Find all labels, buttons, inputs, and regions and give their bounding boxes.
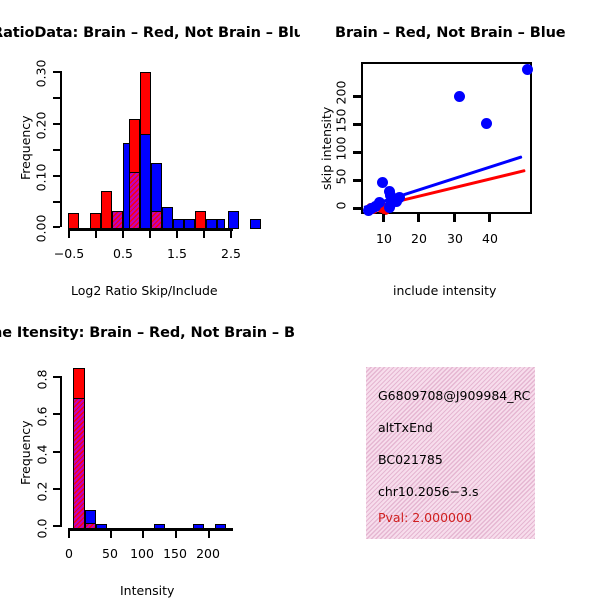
scatter-point-notbrain: [454, 91, 465, 102]
scatter-y-ticklabel-150: 150: [334, 106, 349, 136]
ratio-histogram-title: RatioData: Brain – Red, Not Brain – Blu: [0, 25, 300, 41]
gene-x-tick-0: [68, 531, 70, 538]
ratio-histogram-yaxis: [60, 71, 62, 227]
ratio-bar-overlap-5: [112, 211, 123, 229]
gene-y-tick-00: [53, 525, 60, 527]
gene-x-tick-150: [175, 531, 177, 538]
ratio-y-ticklabel-000: 0.00: [34, 212, 49, 246]
gene-y-ticklabel-08: 0.8: [35, 365, 50, 395]
panel-gene-info: G6809708@J909984_RC altTxEnd BC021785 ch…: [300, 300, 600, 600]
ratio-x-tick-20: [203, 231, 205, 238]
ratio-histogram-ylabel: Frequency: [18, 115, 33, 180]
ratio-y-ticklabel-010: 0.10: [34, 161, 49, 195]
ratio-y-tick-020: [53, 123, 60, 125]
scatter-y-ticklabel-50: 50: [334, 162, 349, 192]
gene-y-tick-08: [53, 376, 60, 378]
ratio-y-tick-010: [53, 175, 60, 177]
scatter-title: Brain – Red, Not Brain – Blue: [335, 25, 566, 41]
scatter-y-ticklabel-0: 0: [334, 191, 349, 221]
ratio-y-ticklabel-030: 0.30: [34, 57, 49, 91]
ratio-x-tick-00: [95, 231, 97, 238]
scatter-x-ticklabel-30: 30: [435, 231, 475, 246]
scatter-x-ticklabel-10: 10: [364, 231, 404, 246]
ratio-y-tick-015: [53, 149, 60, 151]
scatter-y-tick-50: [353, 179, 361, 182]
gene-intensity-xlabel: Intensity: [120, 583, 174, 598]
gene-y-tick-04: [53, 451, 60, 453]
scatter-ylabel: skip intensity: [319, 107, 334, 190]
ratio-y-tick-025: [53, 97, 60, 99]
gene-bar-overlap-2: [85, 523, 96, 529]
ratio-bar-blue-9: [162, 207, 173, 229]
scatter-y-ticklabel-200: 200: [334, 78, 349, 108]
ratio-bar-overlap-8: [151, 211, 162, 229]
ratio-bar-blue-14: [217, 219, 225, 229]
gene-info-locus: chr10.2056−3.s: [378, 484, 479, 499]
ratio-x-ticklabel-25: 2.5: [211, 246, 251, 261]
gene-info-event-type: altTxEnd: [378, 420, 433, 435]
ratio-y-tick-000: [53, 226, 60, 228]
ratio-bar-red-12: [195, 211, 206, 229]
ratio-x-tick-05: [122, 231, 124, 238]
panel-intensity-scatter: Brain – Red, Not Brain – Blue skip inten…: [300, 0, 600, 300]
scatter-x-ticklabel-40: 40: [470, 231, 510, 246]
scatter-point-notbrain: [481, 118, 492, 129]
scatter-xlabel: include intensity: [393, 283, 496, 298]
scatter-x-tick-10: [382, 214, 385, 222]
panel-ratio-histogram: RatioData: Brain – Red, Not Brain – Blu …: [0, 0, 300, 300]
scatter-y-tick-0: [353, 207, 361, 210]
ratio-x-tick-25: [230, 231, 232, 238]
gene-intensity-ylabel: Frequency: [18, 420, 33, 485]
gene-intensity-yaxis: [60, 376, 62, 527]
scatter-y-tick-150: [353, 123, 361, 126]
ratio-bar-red-4: [101, 191, 112, 229]
scatter-x-tick-40: [488, 214, 491, 222]
scatter-x-tick-30: [453, 214, 456, 222]
ratio-bar-blue-10: [173, 219, 184, 229]
scatter-x-tick-20: [417, 214, 420, 222]
ratio-bar-blue-16: [250, 219, 261, 229]
ratio-bar-blue-7: [140, 134, 151, 229]
gene-x-tick-50: [110, 531, 112, 538]
panel-gene-intensity-histogram: ne Itensity: Brain – Red, Not Brain – B …: [0, 300, 300, 600]
ratio-x-tick-m05: [68, 231, 70, 238]
ratio-bar-overlap-6: [129, 172, 140, 229]
gene-info-probe-id: G6809708@J909984_RC: [378, 388, 530, 403]
ratio-y-ticklabel-020: 0.20: [34, 109, 49, 143]
ratio-bar-blue-15: [228, 211, 239, 229]
gene-y-tick-02: [53, 488, 60, 490]
ratio-bar-red-3: [90, 213, 101, 229]
ratio-x-ticklabel-m05: −0.5: [48, 246, 90, 261]
scatter-point-notbrain: [363, 205, 374, 216]
gene-x-ticklabel-0: 0: [49, 546, 89, 561]
gene-intensity-title: ne Itensity: Brain – Red, Not Brain – B: [0, 325, 295, 341]
scatter-y-ticklabel-100: 100: [334, 134, 349, 164]
scatter-y-tick-100: [353, 151, 361, 154]
gene-x-tick-100: [142, 531, 144, 538]
scatter-point-notbrain: [384, 202, 395, 213]
gene-x-tick-200: [208, 531, 210, 538]
ratio-bar-blue-12: [206, 219, 217, 229]
scatter-point-notbrain: [522, 64, 533, 75]
ratio-bar-blue-11: [184, 219, 195, 229]
gene-bar-blue-10: [193, 524, 204, 529]
gene-y-tick-06: [53, 413, 60, 415]
gene-y-ticklabel-04: 0.4: [35, 440, 50, 470]
ratio-x-tick-10: [149, 231, 151, 238]
gene-bar-overlap-1: [73, 398, 85, 529]
ratio-y-tick-005: [53, 201, 60, 203]
scatter-x-ticklabel-20: 20: [399, 231, 439, 246]
gene-bar-blue-3: [96, 524, 107, 529]
scatter-y-tick-200: [353, 95, 361, 98]
gene-y-ticklabel-02: 0.2: [35, 477, 50, 507]
ratio-histogram-xlabel: Log2 Ratio Skip/Include: [71, 283, 218, 298]
gene-y-ticklabel-00: 0.0: [35, 514, 50, 544]
ratio-x-ticklabel-15: 1.5: [157, 246, 197, 261]
ratio-y-tick-030: [53, 71, 60, 73]
gene-y-ticklabel-06: 0.6: [35, 402, 50, 432]
ratio-x-tick-15: [176, 231, 178, 238]
gene-bar-blue-11: [215, 524, 226, 529]
gene-bar-blue-7: [154, 524, 165, 529]
ratio-x-ticklabel-05: 0.5: [103, 246, 143, 261]
gene-info-accession: BC021785: [378, 452, 443, 467]
gene-x-ticklabel-200: 200: [186, 546, 230, 561]
ratio-bar-red-1: [68, 213, 79, 229]
gene-info-pval: Pval: 2.000000: [378, 510, 472, 525]
